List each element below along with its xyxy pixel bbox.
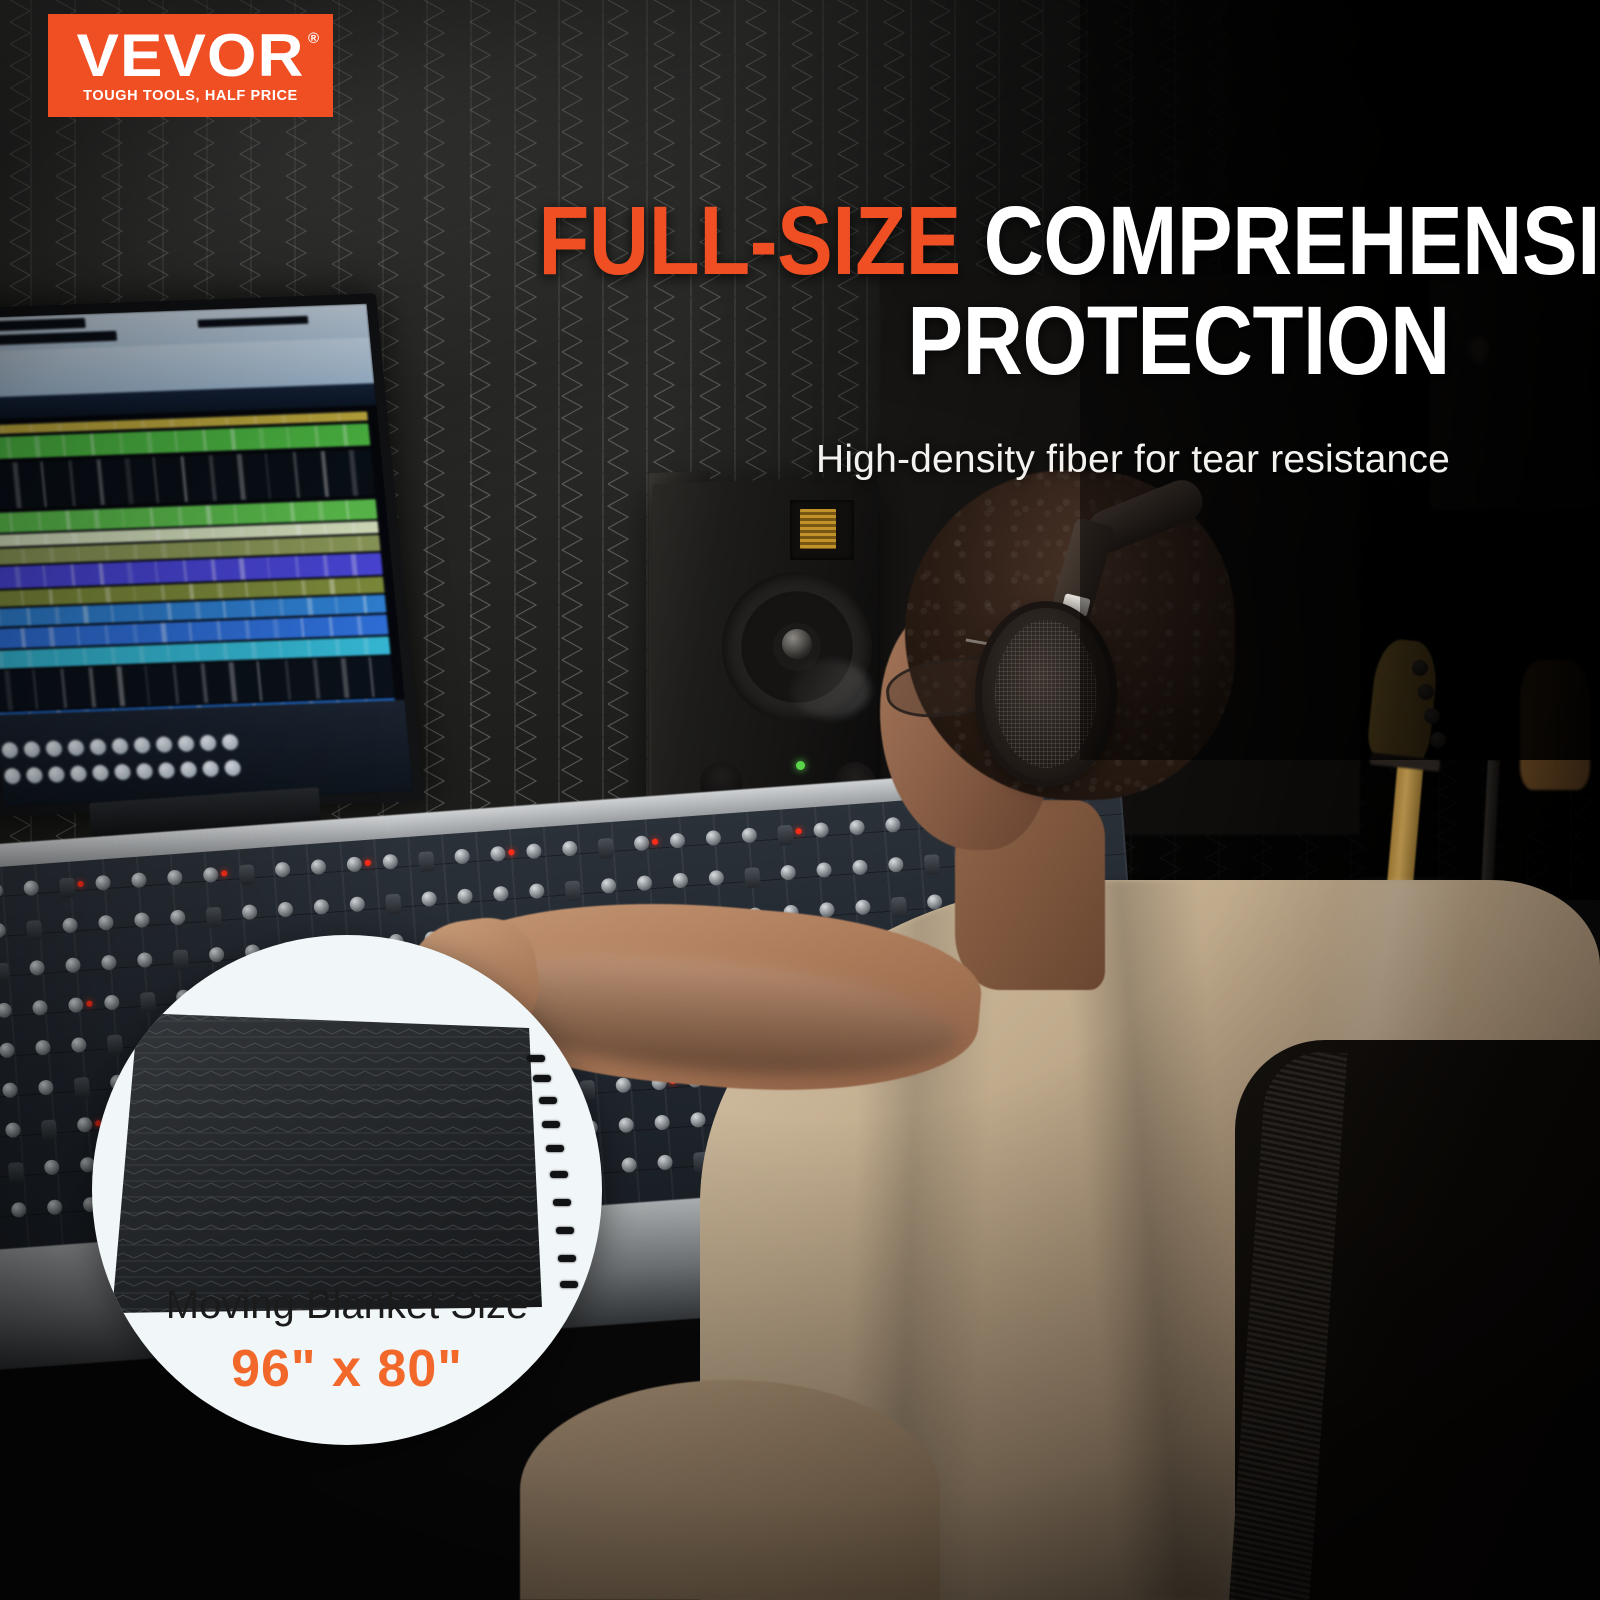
badge-label: Moving Blanket Size	[92, 1283, 602, 1328]
daw-mixer-strip	[0, 700, 414, 807]
product-marketing-banner: VEVOR ® TOUGH TOOLS, HALF PRICE FULL-SIZ…	[0, 0, 1600, 1600]
brand-wordmark: VEVOR	[77, 27, 305, 84]
console-knob	[565, 880, 581, 901]
console-knob	[598, 838, 614, 859]
headline-line-1: FULL-SIZE COMPREHENSIVE	[538, 196, 1450, 286]
blanket-edge-loop	[527, 1055, 545, 1062]
daw-mixer-knob	[114, 764, 132, 781]
blanket-edge-loop	[553, 1199, 571, 1206]
person-lower-sleeve	[520, 1380, 940, 1600]
console-knob	[206, 907, 222, 928]
daw-mixer-knob	[180, 761, 198, 778]
brand-tagline: TOUGH TOOLS, HALF PRICE	[83, 88, 298, 104]
console-knob	[239, 864, 255, 885]
blanket-edge-loop	[546, 1145, 564, 1152]
console-knob	[41, 1119, 57, 1140]
speaker-ribbon-tweeter	[790, 500, 854, 560]
daw-mixer-knob	[158, 762, 176, 779]
daw-mixer-knob	[111, 738, 129, 755]
headline-line-1-rest: COMPREHENSIVE	[984, 186, 1600, 295]
blanket-edge-loop	[550, 1171, 568, 1178]
console-knob	[74, 1077, 90, 1098]
size-callout-badge: Moving Blanket Size 96" x 80"	[92, 935, 602, 1445]
console-knob	[173, 949, 189, 970]
console-knob	[418, 851, 434, 872]
console-knob	[777, 825, 793, 846]
daw-mixer-knob	[221, 734, 239, 751]
daw-mixer-knob	[26, 767, 44, 784]
blanket-edge-loop	[539, 1097, 557, 1104]
blanket-edge-loop	[533, 1075, 551, 1082]
speaker-power-led	[796, 761, 805, 770]
daw-mixer-knob	[4, 768, 22, 785]
blanket-edge-loop	[556, 1227, 574, 1234]
console-knob	[891, 897, 907, 918]
console-knob	[0, 962, 10, 983]
badge-size-value: 96" x 80"	[92, 1339, 602, 1399]
registered-trademark-icon: ®	[308, 30, 319, 47]
daw-mixer-knob	[23, 741, 41, 758]
daw-mixer-knob	[92, 765, 110, 782]
daw-mixer-knob	[224, 760, 242, 777]
blanket-product-image	[112, 1013, 582, 1313]
console-knob	[385, 894, 401, 915]
speaker-highlight	[790, 660, 870, 718]
daw-mixer-knob	[70, 765, 88, 782]
daw-screen	[0, 304, 414, 807]
daw-mixer-knob	[67, 740, 85, 757]
headline-highlight: FULL-SIZE	[538, 186, 960, 295]
daw-mixer-knob	[177, 735, 195, 752]
headline-line-2: PROTECTION	[538, 296, 1450, 386]
daw-mixer-knob	[202, 761, 220, 778]
daw-mixer-knob	[48, 766, 66, 783]
daw-mixer-knob	[1, 742, 19, 759]
daw-mixer-knob	[155, 736, 173, 753]
daw-mixer-knob	[89, 739, 107, 756]
daw-mixer-knob	[133, 737, 151, 754]
blanket-edge-loop	[558, 1255, 576, 1262]
console-knob	[744, 867, 760, 888]
daw-mixer-knob	[136, 763, 154, 780]
console-knob	[140, 992, 156, 1013]
daw-mixer-knob	[199, 735, 217, 752]
computer-monitor	[0, 293, 425, 816]
console-knob	[924, 854, 940, 875]
daw-mixer-knob	[45, 740, 63, 757]
vevor-logo[interactable]: VEVOR ® TOUGH TOOLS, HALF PRICE	[48, 14, 333, 117]
console-knob	[26, 920, 42, 941]
headline-block: FULL-SIZE COMPREHENSIVE PROTECTION	[390, 196, 1450, 386]
blanket-edge-loop	[542, 1121, 560, 1128]
console-knob	[8, 1162, 24, 1183]
blanket-zigzag-pattern	[112, 1013, 542, 1313]
subheadline: High-density fiber for tear resistance	[390, 438, 1450, 482]
console-knob	[59, 877, 75, 898]
